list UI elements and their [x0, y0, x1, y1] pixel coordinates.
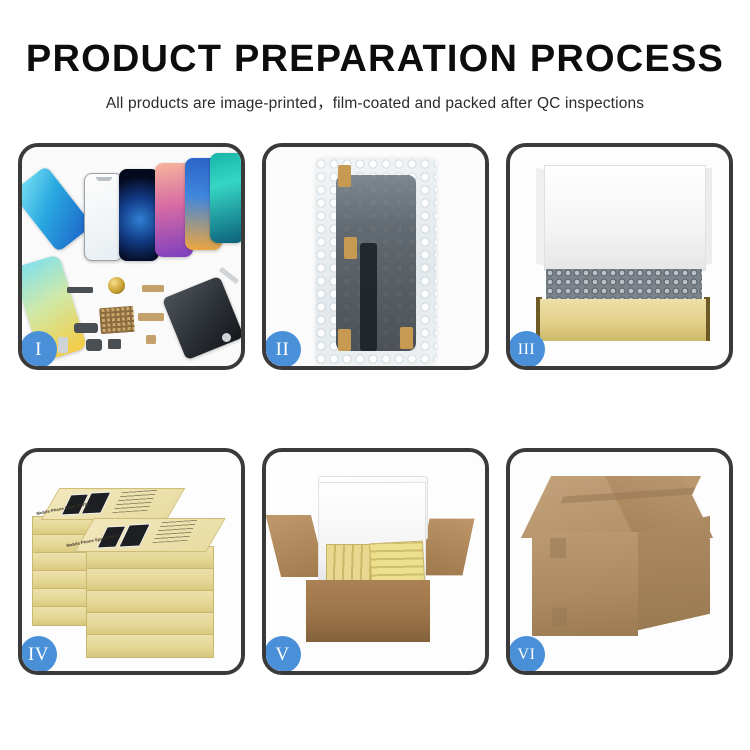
process-step-panel-2[interactable]: II — [262, 143, 489, 370]
spare-part-connector — [142, 285, 164, 292]
step-badge-5: V — [266, 636, 301, 671]
process-step-panel-6[interactable]: VI — [506, 448, 733, 675]
screen-protector-glass — [84, 173, 123, 261]
foam-lined-inner-box-image: III — [510, 147, 729, 366]
step-badge-2: II — [266, 331, 301, 366]
stacked-box-r5 — [86, 634, 214, 658]
carton-with-foam-box-image: V — [266, 452, 485, 671]
page-title: PRODUCT PREPARATION PROCESS — [0, 0, 750, 80]
gold-tape-bottom-left — [338, 329, 351, 351]
phone-parts-assortment-image: I — [22, 147, 241, 366]
process-step-grid: I II III — [18, 143, 733, 675]
spare-part-sim-tray — [58, 337, 68, 353]
stacked-retail-boxes-image: Mobile Phone Spare Parts Mobile Phone Sp… — [22, 452, 241, 671]
spare-part-speaker — [86, 339, 102, 351]
screen-flex-cable — [360, 243, 377, 351]
spare-part-strip — [67, 287, 93, 293]
process-step-panel-1[interactable]: I — [18, 143, 245, 370]
stacked-box-r3 — [86, 590, 214, 614]
gold-tape-bottom-right — [400, 327, 413, 349]
spare-part-bracket — [146, 335, 156, 344]
stacked-box-r2 — [86, 568, 214, 592]
step-badge-1: I — [22, 331, 57, 366]
stacked-box-r4 — [86, 612, 214, 636]
carton-front-face — [532, 532, 638, 636]
page-subtitle: All products are image-printed，film-coat… — [0, 80, 750, 113]
step-badge-6: VI — [510, 636, 545, 671]
sealed-shipping-carton-image: VI — [510, 452, 729, 671]
spare-part-screw — [222, 333, 231, 342]
bubble-wrap-bag — [316, 159, 436, 364]
phone-screen-teal — [210, 153, 241, 243]
logic-board-chip — [99, 306, 135, 334]
step-badge-4: IV — [22, 636, 57, 671]
step-badge-3: III — [510, 331, 545, 366]
phone-chassis-opened — [162, 276, 241, 360]
spare-part-ribbon — [138, 313, 164, 321]
carton-seal-tape-upper — [550, 538, 566, 558]
bubble-wrapped-screen-image: II — [266, 147, 485, 366]
bubble-wrap-filling — [546, 269, 702, 301]
process-step-panel-3[interactable]: III — [506, 143, 733, 370]
gold-tape-middle — [344, 237, 357, 259]
vibration-motor-part — [108, 277, 125, 294]
spare-part-camera — [108, 339, 121, 349]
kraft-box-front — [540, 299, 706, 341]
gold-tape-top — [338, 165, 351, 187]
phone-screen-dark — [119, 169, 159, 261]
carton-side-face — [638, 516, 710, 631]
foam-sheet-lid — [544, 165, 706, 271]
process-step-panel-4[interactable]: Mobile Phone Spare Parts Mobile Phone Sp… — [18, 448, 245, 675]
page-header: PRODUCT PREPARATION PROCESS All products… — [0, 0, 750, 113]
carton-seal-tape-lower — [552, 608, 567, 626]
spare-part-flex — [74, 323, 98, 333]
carton-front-wall — [306, 580, 430, 642]
retail-boxes-inside-right — [369, 541, 425, 584]
process-step-panel-5[interactable]: V — [262, 448, 489, 675]
phone-back-plate-blue — [22, 166, 93, 253]
